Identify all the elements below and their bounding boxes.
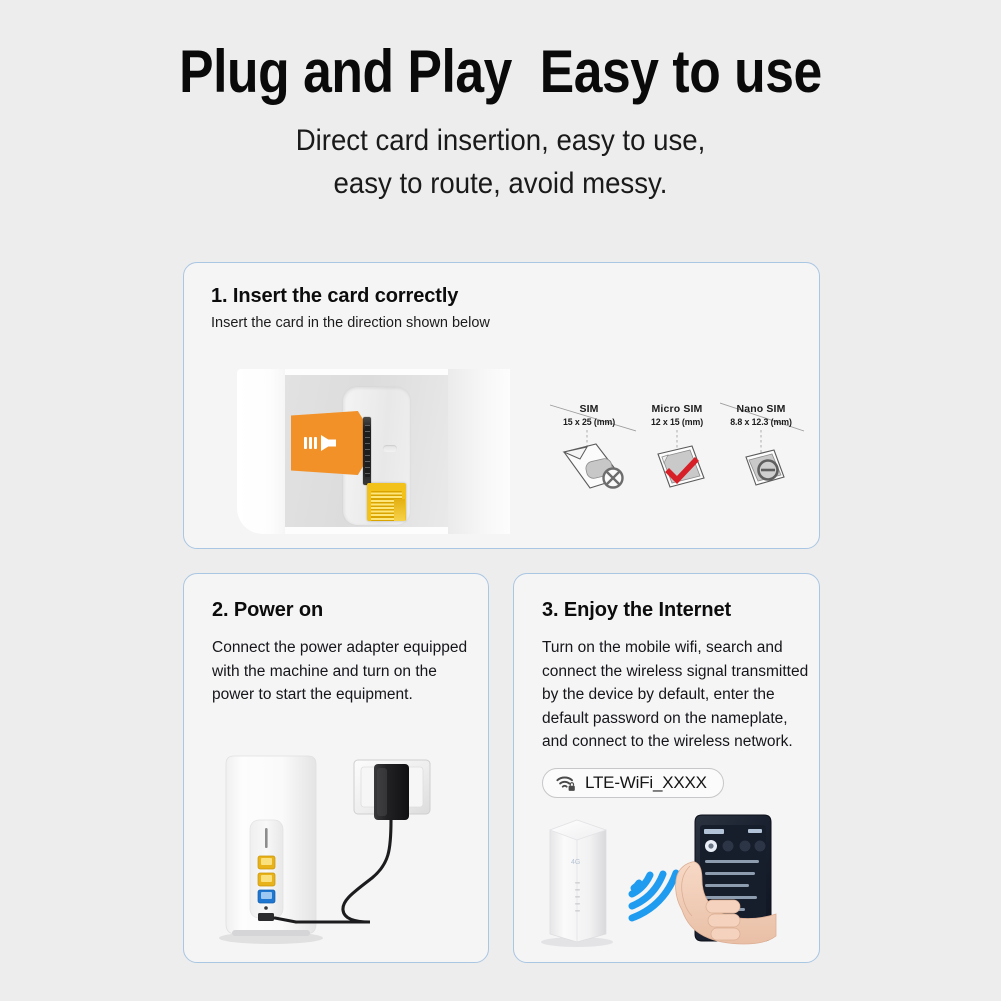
sim-slot-line	[265, 828, 268, 848]
sim-name-label: SIM	[546, 403, 632, 415]
card-subtitle-step-1: Insert the card in the direction shown b…	[211, 316, 490, 331]
card-title-step-1: 1. Insert the card correctly	[211, 285, 458, 308]
sim-name-label: Micro SIM	[634, 403, 720, 415]
sim-card-slot	[363, 417, 371, 485]
page-title: Plug and Play Easy to use	[70, 0, 931, 102]
router-sim-slot-photo	[237, 369, 510, 534]
step-card-power-on: 2. Power on Connect the power adapter eq…	[183, 573, 489, 963]
sim-dimensions-label: 15 x 25 (mm)	[546, 417, 632, 427]
router-power-adapter-illustration	[196, 742, 478, 952]
sim-spec-nano: Nano SIM 8.8 x 12.3 (mm)	[718, 403, 804, 500]
no-entry-bar-icon	[759, 461, 778, 480]
fingers	[706, 900, 740, 940]
wan-port-blue	[258, 890, 275, 903]
sim-size-comparison: SIM 15 x 25 (mm) Micro SIM 12	[546, 403, 804, 525]
hand-holding-phone	[676, 815, 776, 944]
step-card-enjoy-internet: 3. Enjoy the Internet Turn on the mobile…	[513, 573, 820, 963]
card-title-step-3: 3. Enjoy the Internet	[542, 599, 731, 622]
cube-router: 4G	[550, 820, 606, 942]
router-front-edge	[237, 369, 285, 534]
card-body-step-2: Connect the power adapter equipped with …	[212, 636, 472, 707]
bay-notch	[383, 445, 397, 452]
router-wifi-phone-illustration: 4G	[522, 802, 814, 958]
dc-power-jack	[258, 913, 274, 921]
sim-dimensions-label: 8.8 x 12.3 (mm)	[718, 417, 804, 427]
sim-dimensions-label: 12 x 15 (mm)	[634, 417, 720, 427]
ssid-badge[interactable]: LTE-WiFi_XXXX	[542, 768, 724, 798]
sim-spec-standard: SIM 15 x 25 (mm)	[546, 403, 632, 500]
card-title-step-2: 2. Power on	[212, 599, 323, 622]
adapter-highlight	[377, 768, 387, 816]
ethernet-port-yellow	[367, 483, 406, 521]
hero-section: Plug and Play Easy to use Direct card in…	[0, 0, 1001, 205]
no-entry-cross-icon	[604, 469, 623, 488]
sim-spec-micro: Micro SIM 12 x 15 (mm)	[634, 403, 720, 500]
wifi-signal-icon	[632, 873, 676, 918]
router-side-highlight	[448, 369, 510, 534]
card-body-step-3: Turn on the mobile wifi, search and conn…	[542, 636, 816, 754]
router-base	[232, 930, 310, 936]
sim-card-art-micro	[634, 430, 720, 500]
router-logo: 4G	[571, 859, 580, 866]
wifi-lock-icon	[555, 774, 576, 792]
sim-card-art-standard	[546, 430, 632, 500]
step-card-insert-card: 1. Insert the card correctly Insert the …	[183, 262, 820, 549]
orange-sim-insert-arrow-icon	[291, 411, 367, 475]
sim-card-art-nano	[718, 430, 804, 500]
page-subtitle: Direct card insertion, easy to use, easy…	[40, 120, 961, 205]
reset-pinhole	[264, 906, 268, 910]
ssid-label: LTE-WiFi_XXXX	[585, 773, 707, 793]
sim-name-label: Nano SIM	[718, 403, 804, 415]
